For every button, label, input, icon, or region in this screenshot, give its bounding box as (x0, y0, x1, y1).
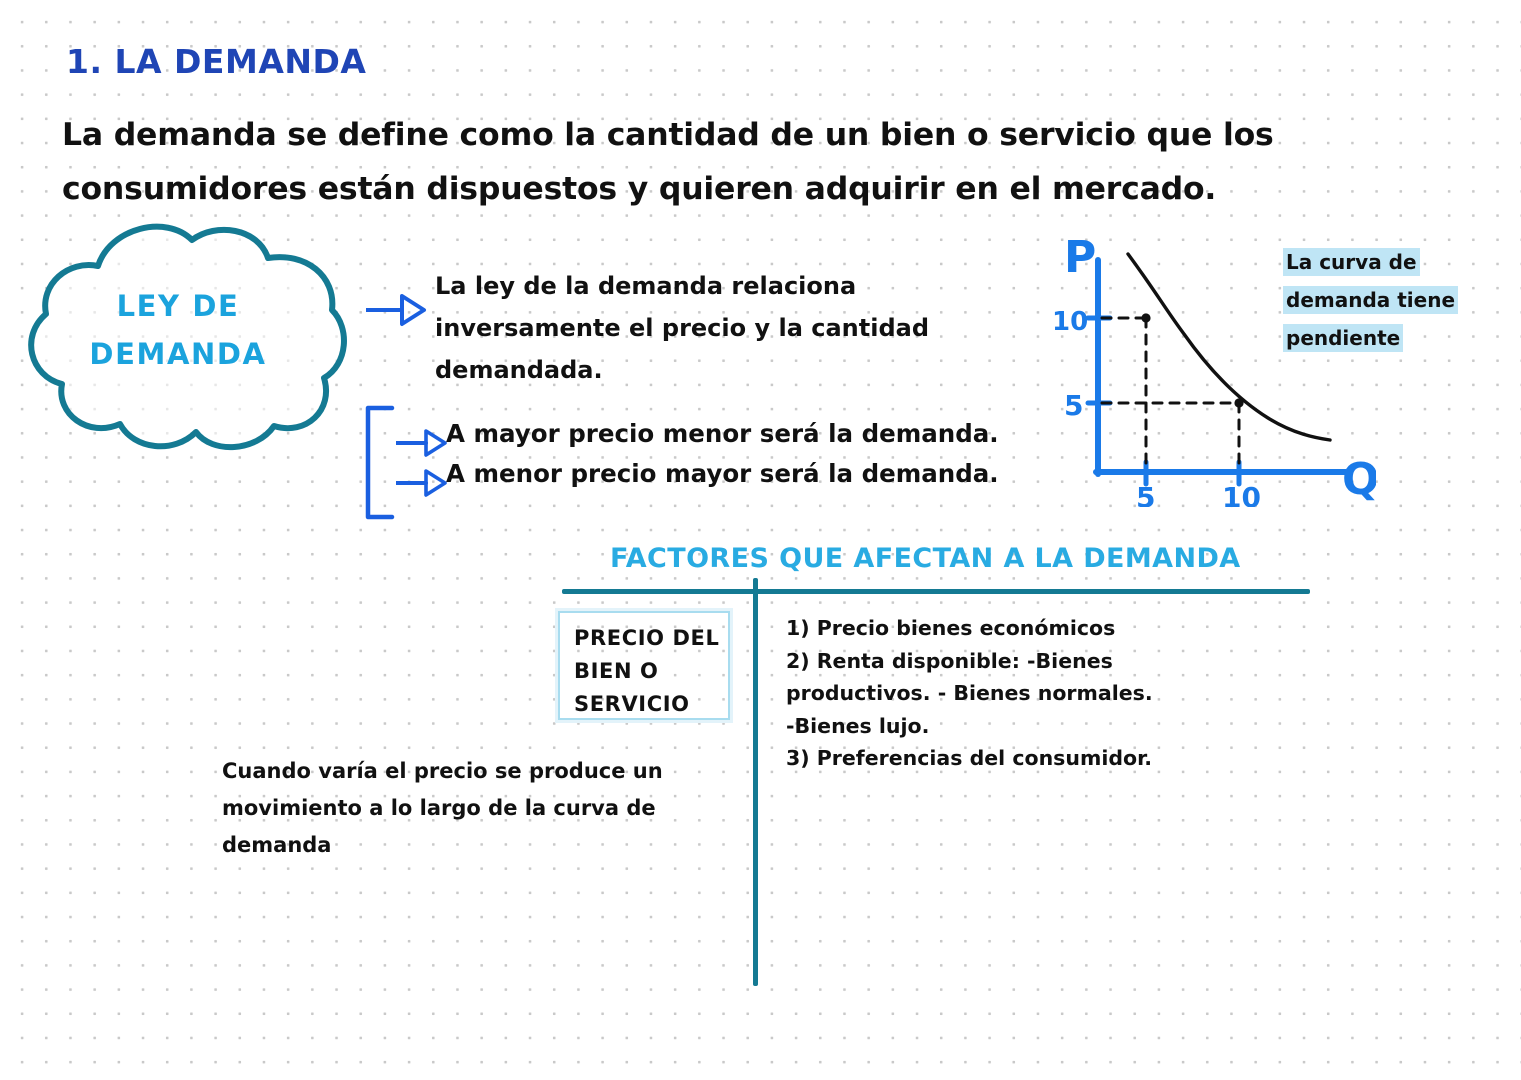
arrow-right-icon (366, 293, 428, 327)
list-item: -Bienes lujo. (786, 710, 1176, 743)
demand-rule-2: A menor precio mayor será la demanda. (446, 459, 999, 488)
chart-xtick-5: 5 (1136, 481, 1155, 507)
chart-xlabel: Q (1342, 454, 1376, 505)
price-box-line3: SERVICIO (574, 688, 728, 721)
intro-paragraph: La demanda se define como la cantidad de… (62, 108, 1392, 216)
chart-ylabel: P (1064, 232, 1096, 283)
price-box-label: PRECIO DEL BIEN O SERVICIO (574, 622, 728, 721)
chart-ytick-10: 10 (1052, 307, 1088, 337)
chart-point-10-5 (1234, 398, 1243, 407)
chart-ytick-5: 5 (1064, 389, 1083, 422)
bracket-icon (362, 405, 402, 520)
horizontal-divider (562, 589, 1310, 594)
law-of-demand-text: La ley de la demanda relaciona inversame… (435, 265, 995, 391)
factors-list: 1) Precio bienes económicos 2) Renta dis… (786, 612, 1176, 775)
demand-rule-1: A mayor precio menor será la demanda. (446, 419, 999, 448)
list-item: productivos. - Bienes normales. (786, 677, 1176, 710)
movement-along-curve-note: Cuando varía el precio se produce un mov… (222, 753, 692, 864)
list-item: 1) Precio bienes económicos (786, 612, 1176, 645)
cloud-label-line1: LEY DE (6, 282, 350, 330)
arrow-right-icon-rule-1 (396, 428, 448, 458)
curve-note-line3: pendiente (1283, 324, 1403, 352)
factores-heading: FACTORES QUE AFECTAN A LA DEMANDA (610, 543, 1241, 574)
list-item: 3) Preferencias del consumidor. (786, 742, 1176, 775)
cloud-callout: LEY DE DEMANDA (6, 218, 350, 454)
price-box-line2: BIEN O (574, 655, 728, 688)
chart-xtick-10: 10 (1222, 481, 1261, 507)
notes-page: 1. LA DEMANDA La demanda se define como … (0, 0, 1521, 1080)
arrow-right-icon-rule-2 (396, 468, 448, 498)
list-item: 2) Renta disponible: -Bienes (786, 645, 1176, 678)
price-box-line1: PRECIO DEL (574, 622, 728, 655)
price-of-good-box: PRECIO DEL BIEN O SERVICIO (558, 611, 730, 720)
cloud-label-line2: DEMANDA (6, 330, 350, 378)
curve-note-line1: La curva de (1283, 248, 1420, 276)
chart-point-5-10 (1141, 313, 1150, 322)
cloud-label: LEY DE DEMANDA (6, 282, 350, 378)
page-title: 1. LA DEMANDA (66, 42, 366, 81)
curve-slope-note: La curva de demanda tiene pendiente (1283, 243, 1513, 357)
vertical-divider (753, 578, 758, 986)
curve-note-line2: demanda tiene (1283, 286, 1458, 314)
